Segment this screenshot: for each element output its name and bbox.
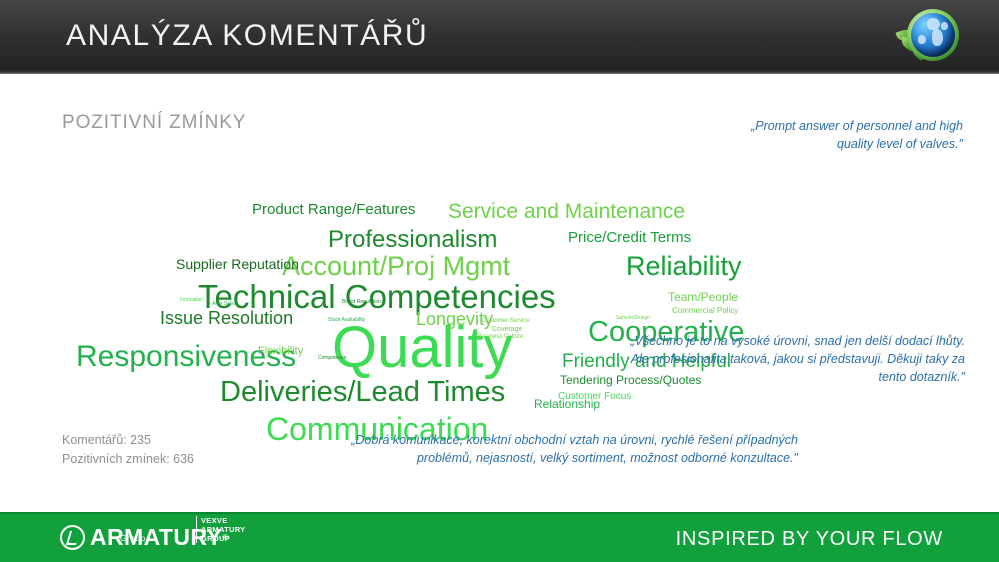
slide-content: POZITIVNÍ ZMÍNKY QualityTechnical Compet…	[0, 74, 999, 512]
customer-quote: „Dobrá komunikace, korektní obchodní vzt…	[330, 431, 798, 467]
word-cloud-term: Commercial Policy	[672, 307, 738, 315]
positive-mentions-count: Pozitivních zmínek: 636	[62, 450, 194, 469]
customer-quote: „Prompt answer of personnel and high qua…	[735, 117, 963, 153]
slide-footer: ARMATURY ® Group VEXVE ARMATURY GROUP IN…	[0, 512, 999, 562]
word-cloud-term: Account/Proj Mgmt	[282, 253, 510, 280]
word-cloud-term: Supplier Reputation	[176, 257, 299, 271]
globe-icon	[911, 13, 955, 57]
word-cloud-term: Price/Credit Terms	[568, 230, 691, 245]
globe-landmass	[918, 35, 926, 44]
word-cloud-term: Flexibility	[258, 346, 303, 357]
word-cloud: QualityTechnical CompetenciesResponsiven…	[60, 138, 780, 448]
footer-tagline: INSPIRED BY YOUR FLOW	[676, 528, 943, 551]
word-cloud-term: Service and Maintenance	[448, 201, 685, 222]
word-cloud-term: Competence	[318, 356, 346, 361]
brand-subtitle: Group	[120, 533, 146, 543]
comment-statistics: Komentářů: 235 Pozitivních zmínek: 636	[62, 431, 194, 470]
word-cloud-term: After Sales	[212, 302, 236, 307]
word-cloud-term: Brand Reputation	[342, 300, 381, 305]
word-cloud-term: Sample/Design	[616, 316, 650, 321]
globe-leaf-logo	[897, 7, 959, 63]
slide-header: ANALÝZA KOMENTÁŘŮ	[0, 0, 999, 68]
vexve-armatury-group-label: VEXVE ARMATURY GROUP	[196, 516, 245, 543]
section-title: POZITIVNÍ ZMÍNKY	[62, 112, 246, 134]
word-cloud-term: Issue Resolution	[160, 309, 293, 327]
word-cloud-term: Innovation	[180, 298, 203, 303]
word-cloud-term: Customer Focus	[558, 392, 631, 402]
word-cloud-term: Deliveries/Lead Times	[220, 378, 505, 407]
armatury-mark-icon	[60, 525, 85, 550]
vexve-line-2: ARMATURY	[201, 525, 245, 534]
word-cloud-term: Stock Availability	[328, 318, 365, 323]
footer-divider	[0, 512, 999, 514]
globe-landmass	[941, 22, 948, 30]
globe-landmass	[932, 29, 943, 46]
comments-count: Komentářů: 235	[62, 431, 194, 450]
word-cloud-term: Reliability	[626, 253, 742, 280]
page-title: ANALÝZA KOMENTÁŘŮ	[66, 19, 428, 53]
customer-quote: „Všechno je to na vysoké úrovni, snad je…	[620, 332, 965, 386]
vexve-line-3: GROUP	[201, 534, 245, 543]
word-cloud-term: Professionalism	[328, 228, 497, 252]
word-cloud-term: Business Culture	[478, 334, 523, 340]
word-cloud-term: Customer Service	[482, 318, 530, 324]
word-cloud-term: Product Range/Features	[252, 202, 415, 217]
word-cloud-term: Team/People	[668, 291, 738, 303]
vexve-line-1: VEXVE	[201, 516, 245, 525]
word-cloud-term: Coverage	[492, 326, 522, 333]
